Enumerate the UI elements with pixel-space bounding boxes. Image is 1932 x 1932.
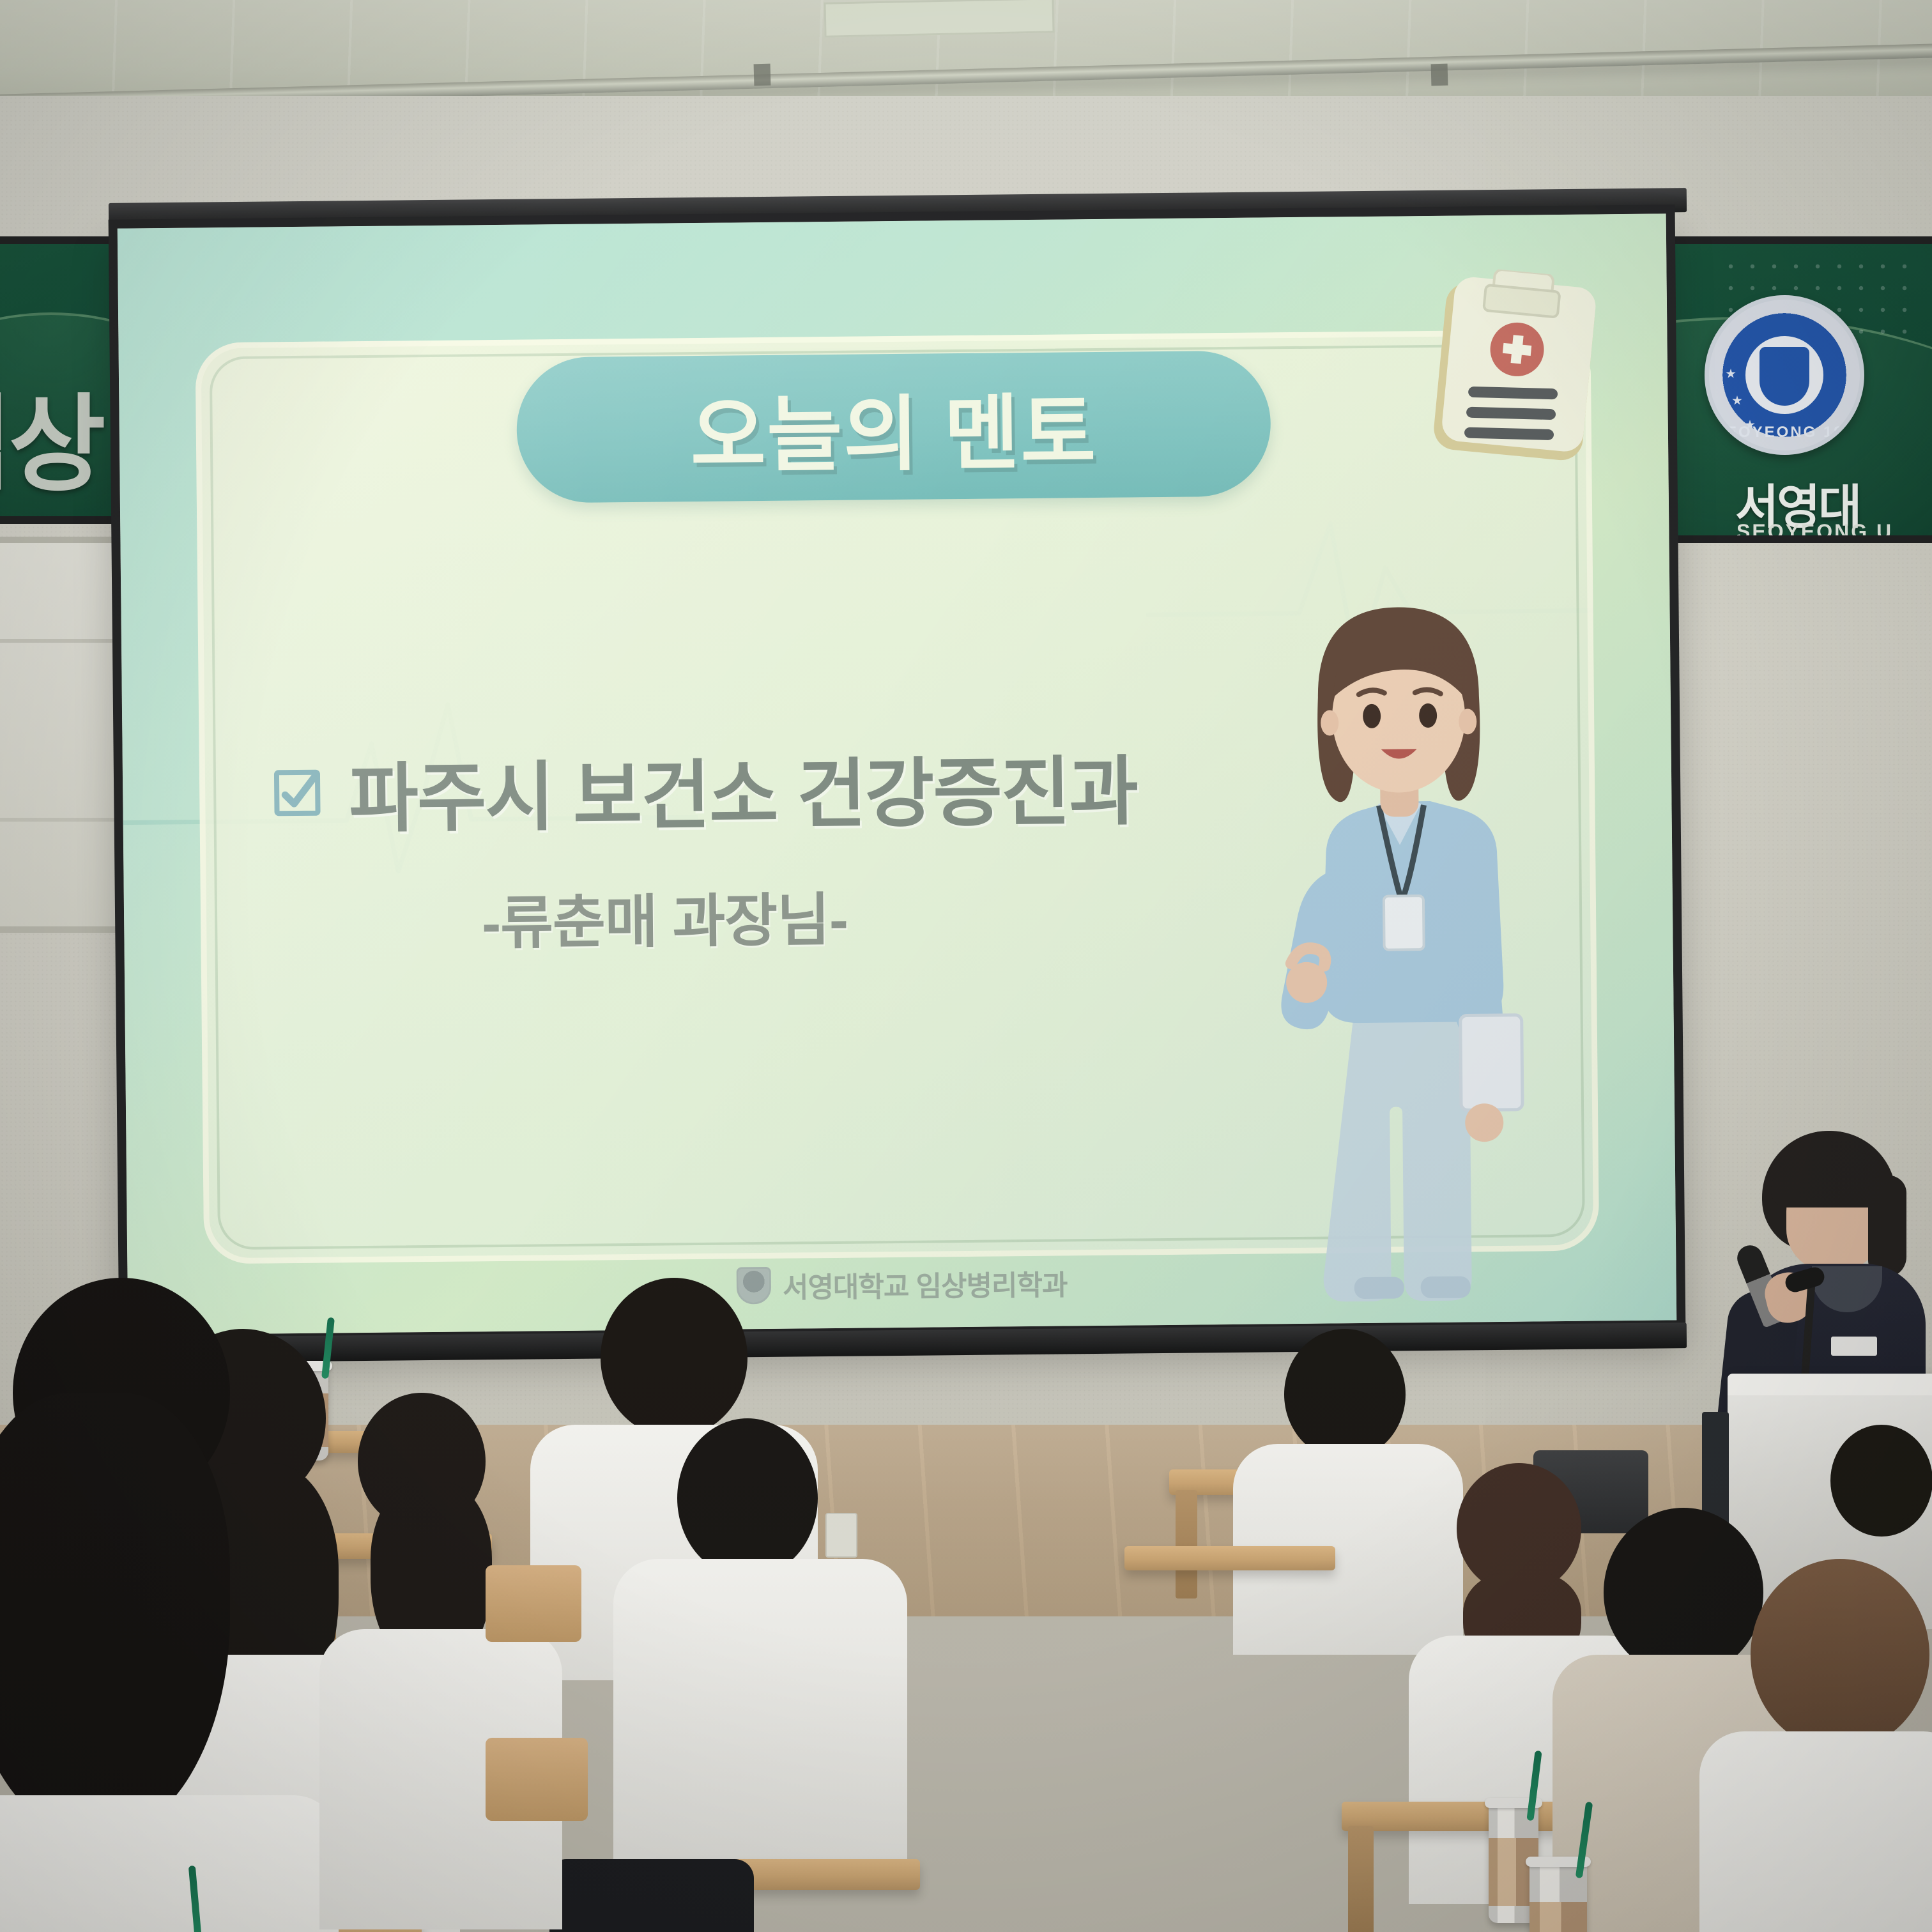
slide-bullet-row: 파주시 보건소 건강증진과 [273, 730, 1137, 847]
student-head [1284, 1329, 1406, 1460]
crest-inner-ring [1740, 330, 1829, 420]
slide-footer: 서영대학교 임상병리학과 [737, 1262, 1068, 1306]
rail-clip [1431, 64, 1448, 86]
cup-label [1529, 1902, 1587, 1932]
chair-back-wood [486, 1565, 581, 1642]
projection-screen-frame: 오늘의 멘토 파주시 보건소 건강증진과 -류춘매 과장님- [109, 204, 1686, 1344]
university-crest-icon [737, 1267, 772, 1305]
university-crest-icon: SEOYEONG 197 [1705, 295, 1864, 455]
slide-title-pill: 오늘의 멘토 [516, 350, 1271, 503]
student-head [1830, 1425, 1932, 1537]
crest-ring-text: SEOYEONG 197 [1709, 424, 1860, 441]
lecture-hall-scene: 임상 ! SEOYEONG 197 서영대 SEOYEONG U [0, 0, 1932, 1932]
student-head [1604, 1508, 1763, 1677]
projection-screen-surface: 오늘의 멘토 파주시 보건소 건강증진과 -류춘매 과장님- [118, 213, 1677, 1335]
checkbox-checked-icon [273, 769, 321, 816]
desk-leg [1348, 1826, 1374, 1932]
student-torso [0, 1795, 339, 1932]
slide-bullet-text: 파주시 보건소 건강증진과 [348, 730, 1137, 847]
audience [0, 1354, 1932, 1932]
student-torso [1699, 1731, 1932, 1932]
nurse-illustration [1241, 599, 1555, 1318]
rail-clip [754, 64, 771, 86]
desk-leg [1176, 1490, 1197, 1598]
student-head [677, 1418, 818, 1578]
student-torso [613, 1559, 907, 1859]
chair-back-wood [486, 1738, 588, 1821]
banner-left-text: 임상 [0, 359, 102, 512]
ceiling-light-panel [824, 0, 1054, 38]
presenter-badge [1831, 1337, 1877, 1356]
student-head [1751, 1559, 1929, 1751]
presenter-hair-side [1868, 1176, 1906, 1278]
slide-footer-text: 서영대학교 임상병리학과 [783, 1262, 1068, 1305]
backpack [549, 1859, 754, 1932]
slide-subtitle: -류춘매 과장님- [482, 873, 848, 960]
desk [1124, 1546, 1335, 1570]
presentation-slide: 오늘의 멘토 파주시 보건소 건강증진과 -류춘매 과장님- [118, 213, 1677, 1335]
banner-university-name-en: SEOYEONG U [1736, 520, 1893, 543]
slide-title: 오늘의 멘토 [690, 365, 1098, 487]
crest-shield [1759, 347, 1809, 406]
student-head [601, 1278, 747, 1437]
medical-clipboard-icon [1422, 264, 1607, 471]
